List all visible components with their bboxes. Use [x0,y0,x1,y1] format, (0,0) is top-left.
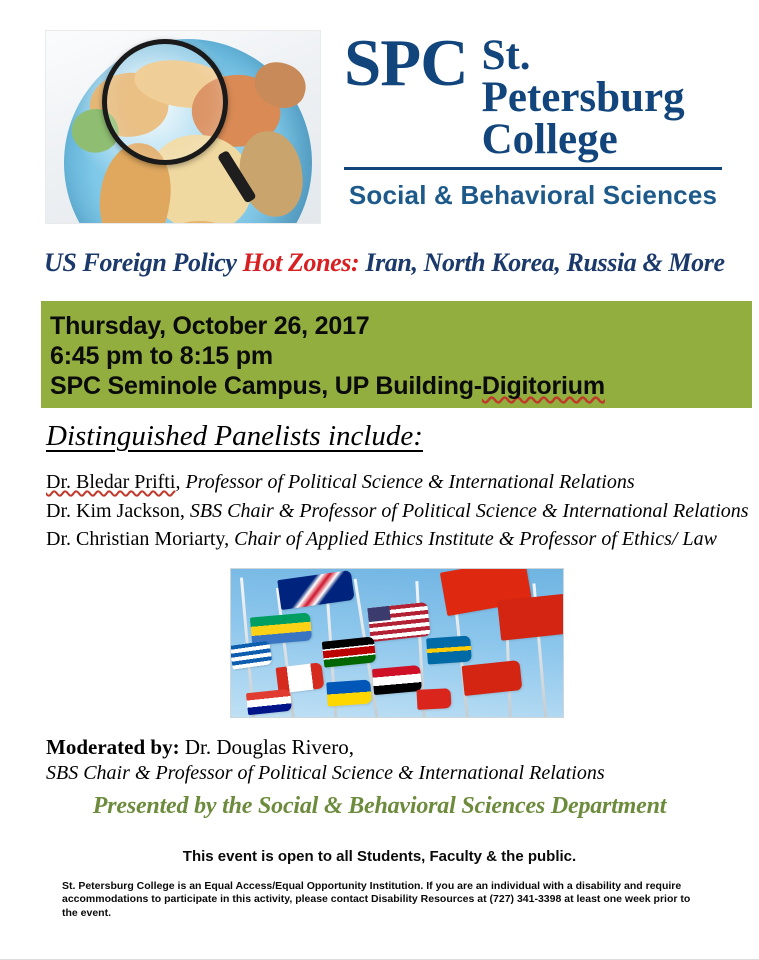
list-item: Dr. Kim Jackson, SBS Chair & Professor o… [46,497,752,526]
logo-acronym: SPC [344,32,468,96]
moderator-role: SBS Chair & Professor of Political Scien… [46,760,746,786]
panelist-role: Chair of Applied Ethics Institute & Prof… [229,528,717,550]
flag-egypt [372,665,422,695]
event-title-part2: Iran, North Korea, Russia & More [359,248,724,277]
logo-lockup: SPC St. Petersburg College [344,32,722,161]
flyer-header: SPC St. Petersburg College Social & Beha… [0,0,759,232]
flag-ukraine [326,679,372,706]
flag-south-africa [246,689,292,715]
event-title-highlight: Hot Zones: [243,248,360,277]
event-title: US Foreign Policy Hot Zones: Iran, North… [44,248,744,278]
event-date: Thursday, October 26, 2017 [50,311,752,341]
moderator-block: Moderated by: Dr. Douglas Rivero, SBS Ch… [46,734,746,786]
logo-subtitle: Social & Behavioral Sciences [344,180,722,211]
moderator-label: Moderated by: [46,735,180,759]
event-location-venue: Digitorium [482,372,605,400]
event-location-prefix: SPC Seminole Campus, UP Building- [50,372,482,400]
flag-kenya [322,636,376,667]
logo-divider [344,167,722,170]
panelist-name: Dr. Christian Moriarty, [46,528,229,550]
presented-by: Presented by the Social & Behavioral Sci… [0,793,759,820]
event-time: 6:45 pm to 8:15 pm [50,341,752,371]
flag-united-kingdom [277,570,354,610]
moderator-name: Dr. Douglas Rivero, [180,735,354,759]
panelist-name: Dr. Bledar Prifti [46,471,175,493]
event-details-banner: Thursday, October 26, 2017 6:45 pm to 8:… [41,301,752,408]
panelist-role: Professor of Political Science & Interna… [180,471,634,493]
accessibility-disclaimer: St. Petersburg College is an Equal Acces… [62,880,702,920]
panelists-list: Dr. Bledar Prifti, Professor of Politica… [46,468,752,554]
flag-greece [230,640,272,669]
flag-united-states [367,602,430,642]
panelists-heading: Distinguished Panelists include: [46,420,423,453]
panelist-role: SBS Chair & Professor of Political Scien… [185,500,749,522]
logo-name-line1: St. Petersburg [482,35,722,119]
flag-china [462,660,523,696]
event-location: SPC Seminole Campus, UP Building-Digitor… [50,371,752,401]
open-to-public-note: This event is open to all Students, Facu… [0,848,759,865]
event-title-part1: US Foreign Policy [44,248,243,277]
list-item: Dr. Christian Moriarty, Chair of Applied… [46,525,752,554]
magnifying-glass-icon [102,39,228,165]
flag-sweden [426,635,472,664]
moderator-line: Moderated by: Dr. Douglas Rivero, [46,734,746,760]
list-item: Dr. Bledar Prifti, Professor of Politica… [46,468,752,497]
international-flags-image [230,568,564,718]
spc-logo: SPC St. Petersburg College Social & Beha… [344,32,722,211]
flag-vietnam [416,688,451,710]
logo-name: St. Petersburg College [482,32,722,161]
panelist-name: Dr. Kim Jackson, [46,500,185,522]
globe-magnifier-image [45,30,321,224]
flag-gabon [250,612,312,645]
logo-name-line2: College [482,119,722,161]
flag-china [497,593,564,640]
